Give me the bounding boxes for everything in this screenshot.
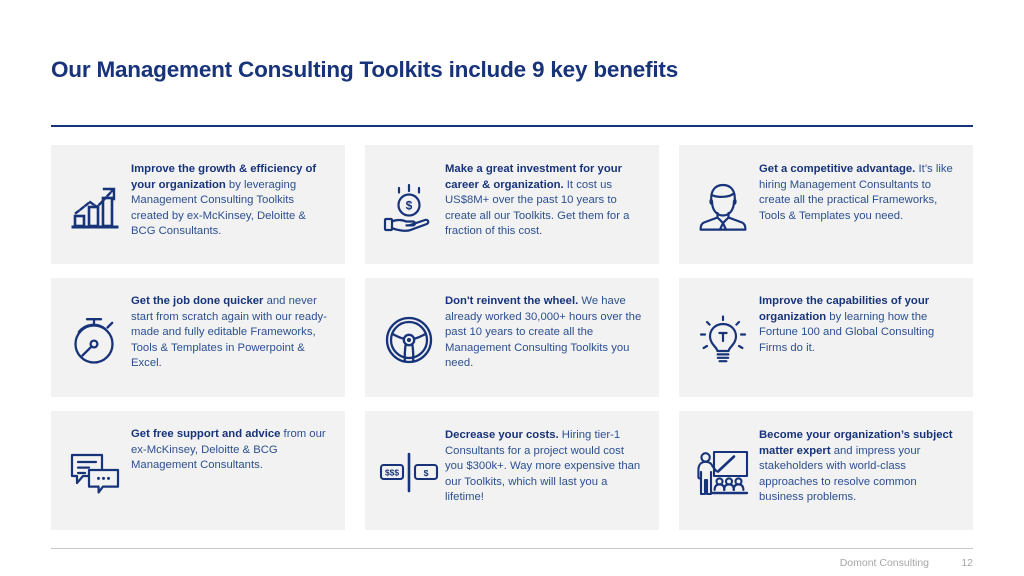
benefit-text-5: Don't reinvent the wheel. We have alread…: [445, 292, 649, 372]
benefits-grid: Improve the growth & efficiency of your …: [51, 145, 973, 530]
money-big-label: $$$: [385, 467, 399, 477]
benefit-text-4: Get the job done quicker and never start…: [131, 292, 335, 372]
presenter-whiteboard-icon: [687, 446, 759, 498]
steering-wheel-icon: [373, 313, 445, 365]
svg-text:$: $: [406, 198, 413, 212]
benefit-text-7: Get free support and advice from our ex-…: [131, 425, 335, 474]
bar-chart-growth-icon: [59, 181, 131, 231]
benefit-card-7[interactable]: Get free support and advice from our ex-…: [51, 411, 345, 530]
footer-page-number: 12: [957, 557, 973, 569]
benefit-text-1: Improve the growth & efficiency of your …: [131, 159, 335, 240]
benefit-card-2[interactable]: $ Make a great investment for your caree…: [365, 145, 659, 264]
benefit-card-9[interactable]: Become your organization’s subject matte…: [679, 411, 973, 530]
benefit-lead-3: Get a competitive advantage.: [759, 163, 915, 175]
benefit-text-3: Get a competitive advantage. It’s like h…: [759, 159, 963, 224]
slide-footer: Domont Consulting 12: [51, 554, 973, 572]
money-small-label: $: [424, 467, 429, 477]
money-comparison-icon: $$$ $: [373, 449, 445, 495]
benefit-card-8[interactable]: $$$ $ Decrease your costs. Hiring tier-1…: [365, 411, 659, 530]
benefit-card-5[interactable]: Don't reinvent the wheel. We have alread…: [365, 278, 659, 397]
slide-header: Our Management Consulting Toolkits inclu…: [51, 56, 973, 83]
benefit-text-6: Improve the capabilities of your organiz…: [759, 292, 963, 356]
benefit-lead-8: Decrease your costs.: [445, 429, 559, 441]
hand-holding-coin-icon: $: [373, 180, 445, 232]
benefit-card-3[interactable]: Get a competitive advantage. It’s like h…: [679, 145, 973, 264]
benefit-card-1[interactable]: Improve the growth & efficiency of your …: [51, 145, 345, 264]
footer-divider: [51, 548, 973, 549]
footer-company-name: Domont Consulting: [840, 557, 929, 569]
title-divider: [51, 125, 973, 127]
speech-bubbles-icon: [59, 449, 131, 495]
benefit-card-6[interactable]: Improve the capabilities of your organiz…: [679, 278, 973, 397]
benefit-lead-5: Don't reinvent the wheel.: [445, 295, 578, 307]
benefit-lead-4: Get the job done quicker: [131, 295, 263, 307]
stopwatch-icon: [59, 313, 131, 365]
consultant-avatar-icon: [687, 180, 759, 232]
benefit-text-2: Make a great investment for your career …: [445, 159, 649, 240]
benefit-card-4[interactable]: Get the job done quicker and never start…: [51, 278, 345, 397]
benefit-lead-7: Get free support and advice: [131, 428, 280, 440]
benefit-text-9: Become your organization’s subject matte…: [759, 425, 963, 506]
slide: Our Management Consulting Toolkits inclu…: [0, 0, 1024, 576]
page-title: Our Management Consulting Toolkits inclu…: [51, 56, 973, 83]
lightbulb-icon: [687, 313, 759, 365]
benefit-text-8: Decrease your costs. Hiring tier-1 Consu…: [445, 425, 649, 506]
